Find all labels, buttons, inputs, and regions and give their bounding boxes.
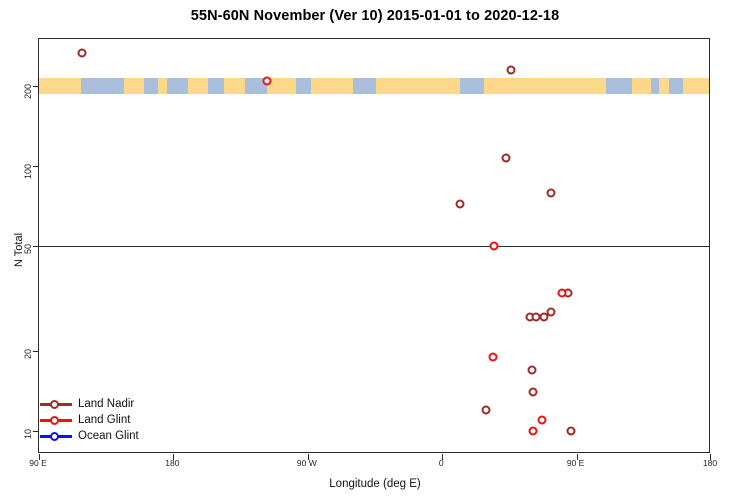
- data-point: [566, 427, 575, 436]
- x-axis-tick-label: 180: [165, 458, 179, 468]
- data-point: [538, 416, 547, 425]
- data-point: [529, 388, 538, 397]
- legend-marker-icon: [40, 430, 72, 442]
- data-point: [547, 188, 556, 197]
- y-axis-tick-label: 100: [23, 164, 33, 194]
- map-land-segment: [376, 78, 460, 94]
- y-axis-tick: [33, 246, 39, 247]
- x-axis-tick-label: 180: [703, 458, 717, 468]
- legend-label: Land Nadir: [78, 398, 134, 410]
- map-land-segment: [659, 78, 669, 94]
- map-land-segment: [683, 78, 709, 94]
- map-land-segment: [158, 78, 167, 94]
- y-axis-tick-label: 10: [23, 429, 33, 459]
- data-point: [547, 308, 556, 317]
- plot-frame: [38, 38, 710, 453]
- data-point: [481, 406, 490, 415]
- x-axis-tick-label: 90 E: [567, 458, 585, 468]
- reference-hline: [39, 246, 709, 247]
- data-point: [506, 65, 515, 74]
- y-axis-tick: [33, 351, 39, 352]
- data-point: [502, 153, 511, 162]
- legend-marker-icon: [40, 398, 72, 410]
- map-land-segment: [188, 78, 207, 94]
- legend-label: Ocean Glint: [78, 430, 139, 442]
- page-title: 55N-60N November (Ver 10) 2015-01-01 to …: [0, 8, 750, 24]
- x-axis-tick-label: 0: [439, 458, 444, 468]
- y-axis-tick: [33, 166, 39, 167]
- map-land-segment: [484, 78, 606, 94]
- map-land-segment: [124, 78, 143, 94]
- y-axis-tick-label: 200: [23, 84, 33, 114]
- plot-canvas: [39, 39, 709, 452]
- legend-item: Land Glint: [40, 412, 139, 428]
- data-point: [488, 353, 497, 362]
- legend: Land NadirLand GlintOcean Glint: [40, 396, 139, 444]
- y-axis-tick-label: 20: [23, 349, 33, 379]
- legend-label: Land Glint: [78, 414, 130, 426]
- map-land-segment: [632, 78, 651, 94]
- x-axis-tick-label: 90 W: [297, 458, 317, 468]
- data-point: [456, 199, 465, 208]
- data-point: [263, 77, 272, 86]
- y-axis-tick: [33, 431, 39, 432]
- map-land-segment: [39, 78, 81, 94]
- x-axis-tick-label: 90 E: [29, 458, 47, 468]
- map-land-segment: [224, 78, 245, 94]
- map-land-segment: [311, 78, 353, 94]
- y-axis-tick: [33, 86, 39, 87]
- chart-page: 55N-60N November (Ver 10) 2015-01-01 to …: [0, 0, 750, 500]
- x-axis-label: Longitude (deg E): [0, 478, 750, 490]
- legend-item: Ocean Glint: [40, 428, 139, 444]
- y-axis-tick-label: 50: [23, 244, 33, 274]
- data-point: [490, 241, 499, 250]
- coastline-map-strip: [39, 78, 709, 94]
- data-point: [78, 49, 87, 58]
- data-point: [527, 365, 536, 374]
- legend-item: Land Nadir: [40, 396, 139, 412]
- data-point: [557, 289, 566, 298]
- data-point: [529, 427, 538, 436]
- legend-marker-icon: [40, 414, 72, 426]
